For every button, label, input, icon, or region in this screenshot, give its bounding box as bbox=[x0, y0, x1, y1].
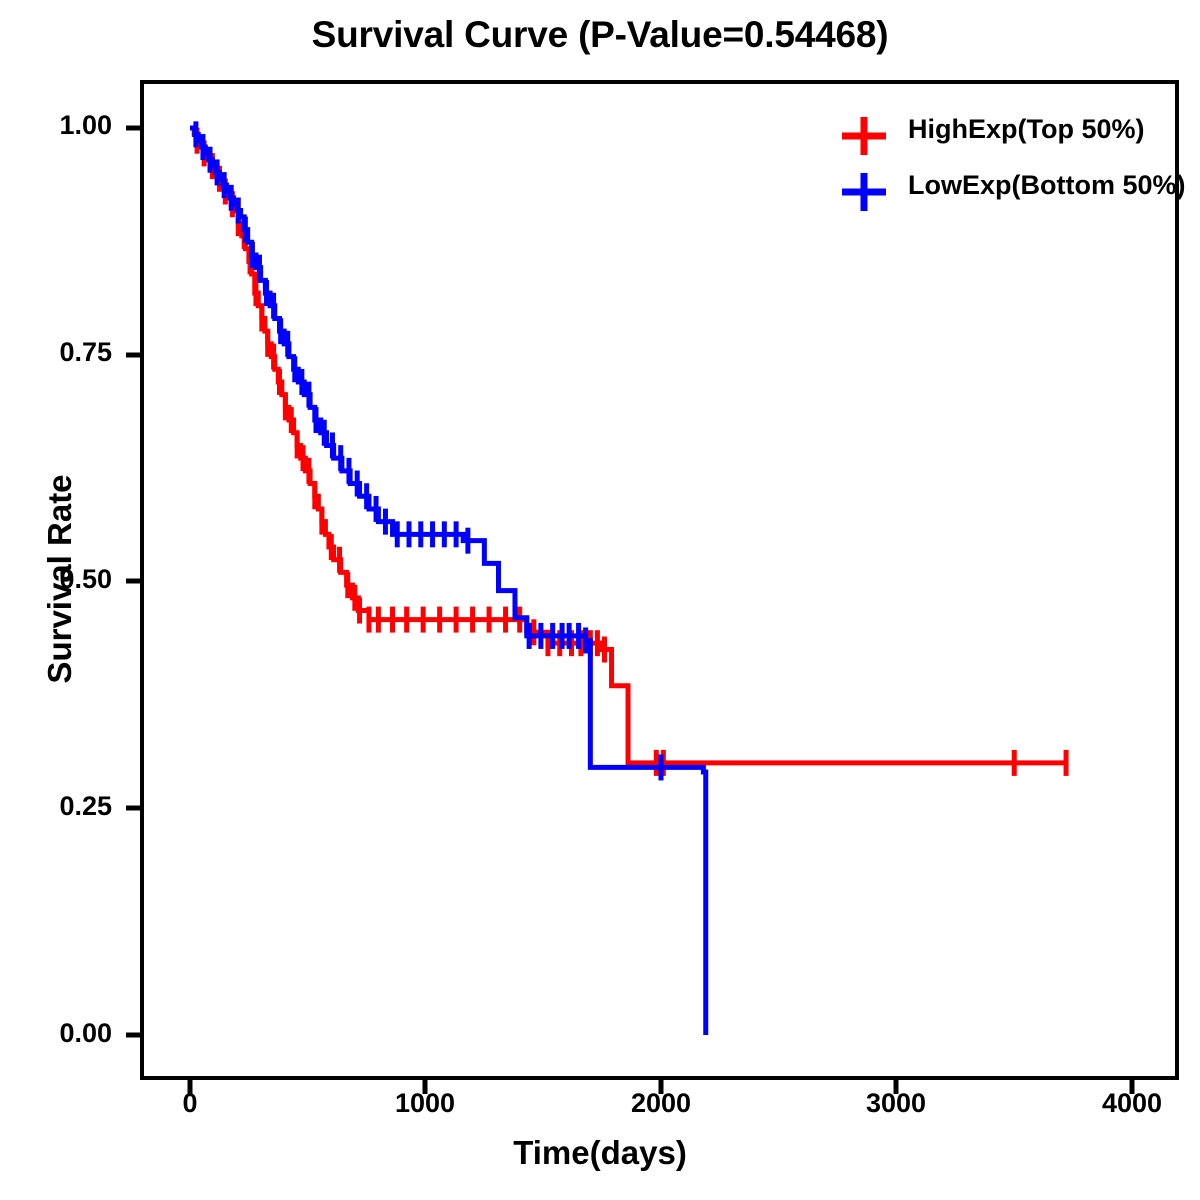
legend-label-low-exp: LowExp(Bottom 50%) bbox=[908, 170, 1186, 201]
legend: HighExp(Top 50%) LowExp(Bottom 50%) bbox=[840, 108, 1180, 220]
censor-marks-high-exp bbox=[197, 128, 1066, 776]
axis-frame bbox=[126, 82, 1177, 1094]
plus-marker-icon bbox=[840, 170, 888, 214]
survival-line-high-exp bbox=[190, 128, 1066, 763]
plus-marker-icon bbox=[840, 114, 888, 158]
survival-line-low-exp bbox=[190, 128, 706, 1035]
y-axis-ticks bbox=[126, 128, 142, 1035]
legend-item-low-exp[interactable]: LowExp(Bottom 50%) bbox=[840, 164, 1180, 220]
legend-label-high-exp: HighExp(Top 50%) bbox=[908, 114, 1145, 145]
survival-chart-figure: Survival Curve (P-Value=0.54468) Surviva… bbox=[0, 0, 1200, 1200]
survival-curves bbox=[190, 121, 1066, 1035]
legend-item-high-exp[interactable]: HighExp(Top 50%) bbox=[840, 108, 1180, 164]
x-axis-ticks bbox=[190, 1078, 1132, 1094]
